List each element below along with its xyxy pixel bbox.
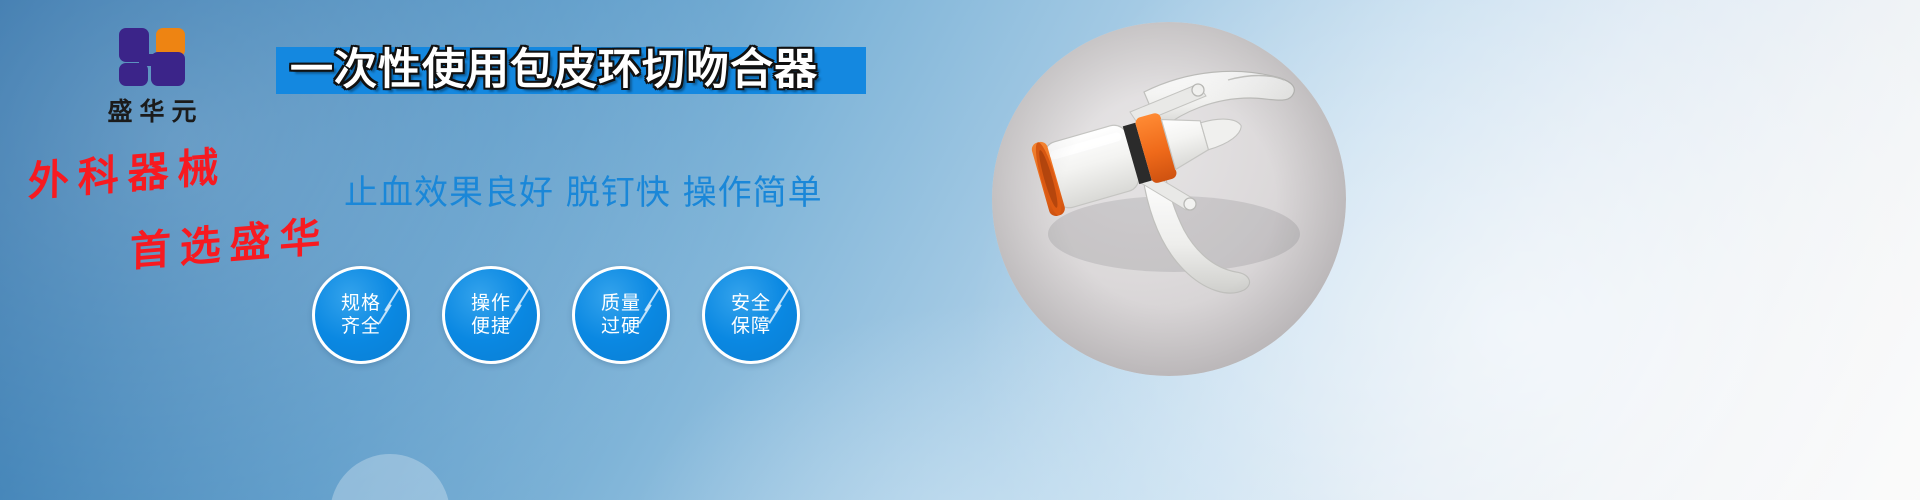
feature-badge-list: 规格 齐全 操作 便捷 质量 过硬 安全 保障 xyxy=(312,266,800,364)
calligraphy-line-1: 外科器械 xyxy=(28,122,358,208)
logo-block-bottom-left xyxy=(119,63,148,86)
feature-badge-4-line-2: 保障 xyxy=(731,315,771,338)
feature-badge-4-line-1: 安全 xyxy=(731,292,771,315)
feature-badge-2-line-2: 便捷 xyxy=(471,315,511,338)
subtitle: 止血效果良好 脱钉快 操作简单 xyxy=(344,165,823,214)
calligraphy-slogan: 外科器械 首选盛华 xyxy=(18,148,358,258)
product-photo xyxy=(992,22,1346,376)
feature-badge-2-line-1: 操作 xyxy=(471,292,511,315)
feature-badge-1-line-1: 规格 xyxy=(341,292,381,315)
feature-badge-1[interactable]: 规格 齐全 xyxy=(312,266,410,364)
logo-mark-icon xyxy=(119,28,185,86)
product-illustration-icon xyxy=(992,22,1346,376)
promo-banner: 盛华元 外科器械 首选盛华 一次性使用包皮环切吻合器 止血效果良好 脱钉快 操作… xyxy=(0,0,1920,500)
background-arc-decoration xyxy=(330,454,450,500)
feature-badge-3[interactable]: 质量 过硬 xyxy=(572,266,670,364)
feature-badge-4[interactable]: 安全 保障 xyxy=(702,266,800,364)
logo-wordmark: 盛华元 xyxy=(62,92,242,128)
brand-logo[interactable]: 盛华元 xyxy=(62,28,242,128)
feature-badge-2[interactable]: 操作 便捷 xyxy=(442,266,540,364)
feature-badge-1-line-2: 齐全 xyxy=(341,315,381,338)
feature-badge-3-line-1: 质量 xyxy=(601,292,641,315)
logo-block-connector xyxy=(139,54,159,66)
page-title: 一次性使用包皮环切吻合器 xyxy=(290,44,890,96)
feature-badge-3-line-2: 过硬 xyxy=(601,315,641,338)
